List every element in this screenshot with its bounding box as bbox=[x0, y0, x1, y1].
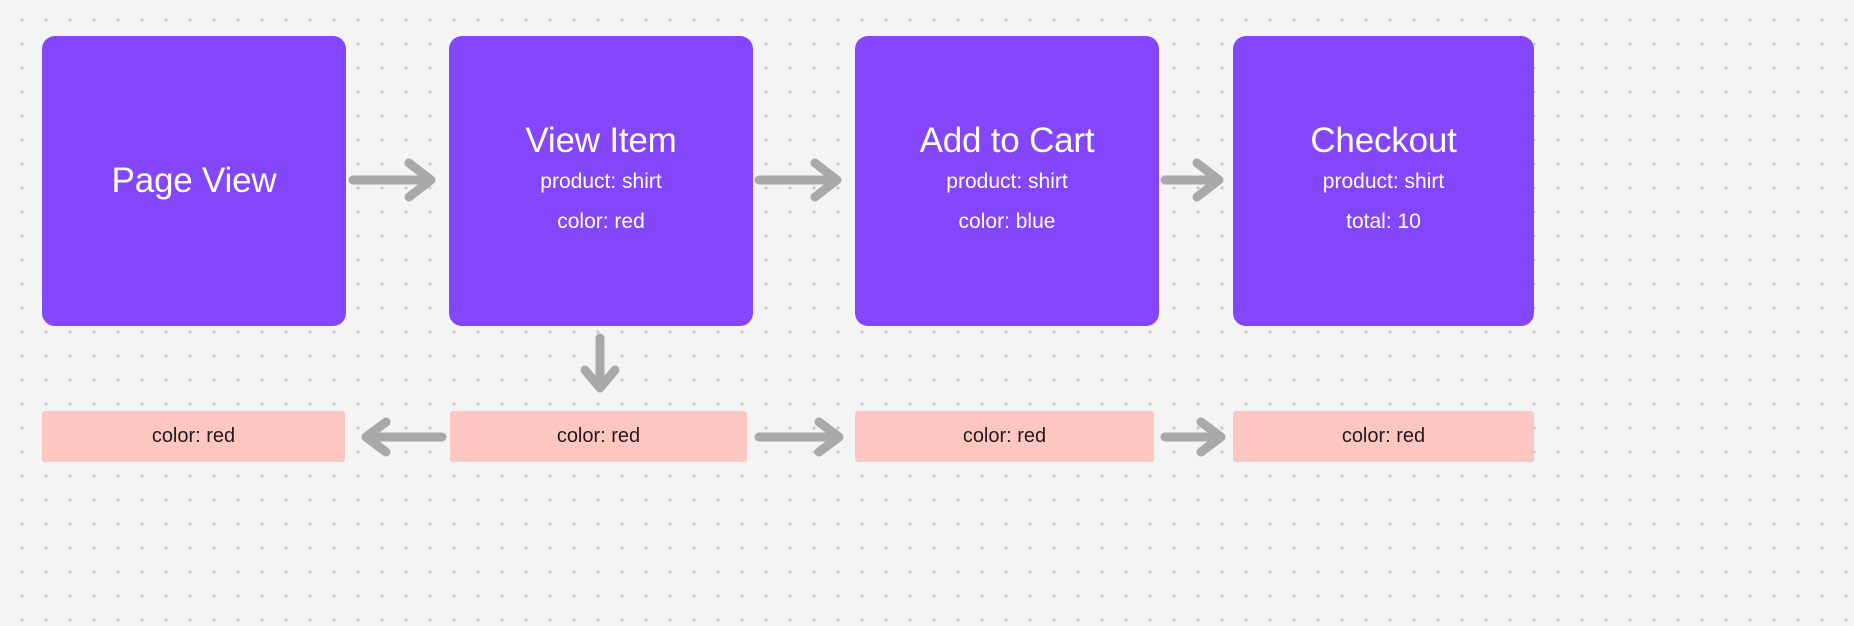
property-chip-label: color: red bbox=[152, 425, 235, 448]
property-chip-label: color: red bbox=[963, 425, 1046, 448]
event-node-page-view[interactable]: Page View bbox=[42, 36, 346, 326]
arrow-left-icon bbox=[352, 421, 444, 453]
arrow-right-icon bbox=[1163, 158, 1231, 202]
event-node-title: Page View bbox=[112, 160, 277, 201]
event-node-title: Checkout bbox=[1310, 120, 1456, 161]
event-node-add-to-cart[interactable]: Add to Cart product: shirt color: blue bbox=[855, 36, 1159, 326]
property-chip-add-to-cart[interactable]: color: red bbox=[855, 411, 1154, 462]
property-chip-label: color: red bbox=[1342, 425, 1425, 448]
event-node-property: color: blue bbox=[959, 202, 1056, 242]
arrow-down-icon bbox=[580, 336, 620, 398]
arrow-right-icon bbox=[1163, 421, 1231, 453]
event-node-view-item[interactable]: View Item product: shirt color: red bbox=[449, 36, 753, 326]
property-chip-checkout[interactable]: color: red bbox=[1233, 411, 1534, 462]
arrow-right-icon bbox=[351, 158, 443, 202]
event-node-property: product: shirt bbox=[946, 162, 1067, 202]
event-node-property: total: 10 bbox=[1346, 202, 1421, 242]
event-node-property: product: shirt bbox=[1323, 162, 1444, 202]
event-node-title: View Item bbox=[525, 120, 676, 161]
event-node-title: Add to Cart bbox=[920, 120, 1095, 161]
event-node-property: product: shirt bbox=[540, 162, 661, 202]
property-chip-label: color: red bbox=[557, 425, 640, 448]
property-chip-view-item[interactable]: color: red bbox=[450, 411, 747, 462]
property-chip-page-view[interactable]: color: red bbox=[42, 411, 345, 462]
flowchart-canvas[interactable]: Page View View Item product: shirt color… bbox=[0, 0, 1854, 626]
event-node-property: color: red bbox=[557, 202, 645, 242]
event-node-checkout[interactable]: Checkout product: shirt total: 10 bbox=[1233, 36, 1534, 326]
arrow-right-icon bbox=[757, 421, 849, 453]
arrow-right-icon bbox=[757, 158, 849, 202]
